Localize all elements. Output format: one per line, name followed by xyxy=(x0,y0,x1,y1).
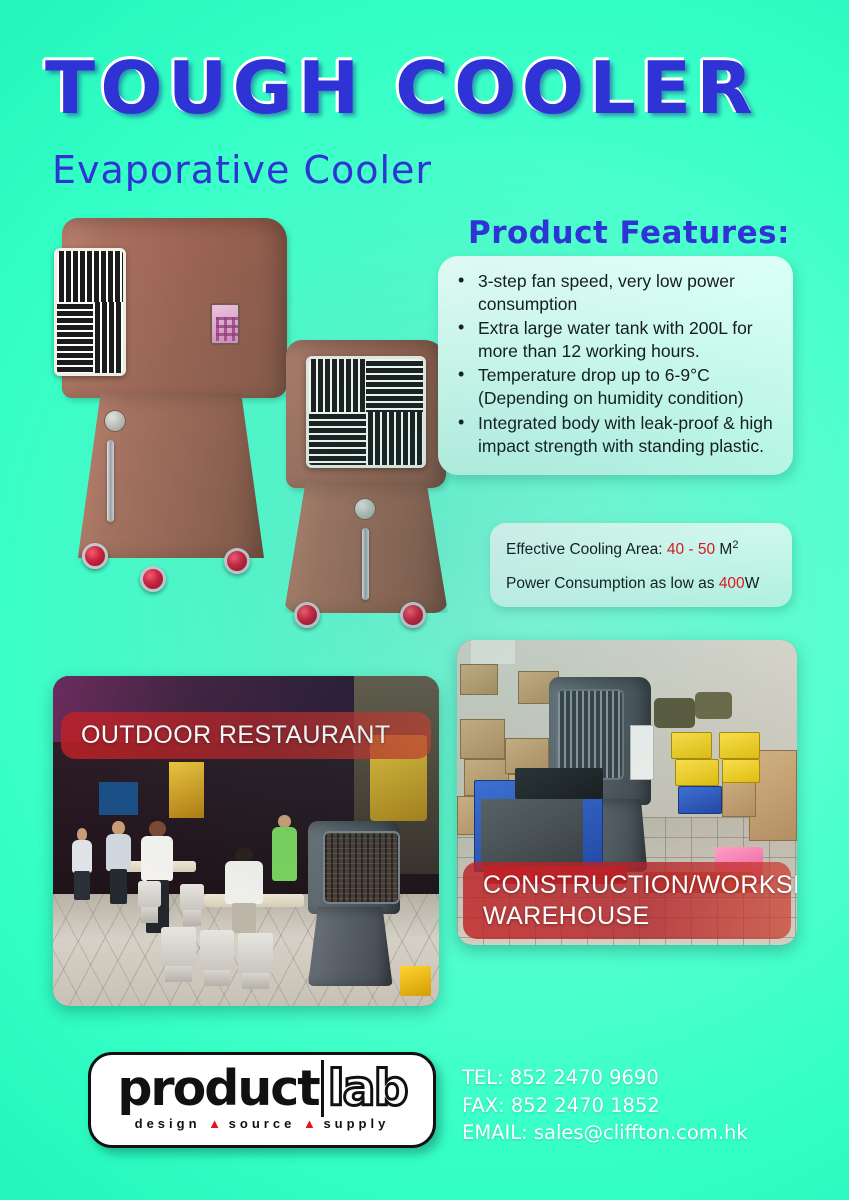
photo-caption-banner: CONSTRUCTION/WORKSITE/ WAREHOUSE xyxy=(463,862,791,939)
poster-background: TOUGH COOLER Evaporative Cooler xyxy=(0,0,849,1200)
features-list: 3-step fan speed, very low power consump… xyxy=(448,270,777,458)
person xyxy=(269,815,300,881)
person xyxy=(68,828,95,901)
contact-fax: FAX: 852 2470 1852 xyxy=(462,1092,748,1120)
tagline-source: source xyxy=(229,1116,296,1131)
caster-wheel xyxy=(294,602,320,628)
tagline-design: design xyxy=(135,1116,201,1131)
triangle-icon: ▲ xyxy=(208,1116,221,1131)
spec-power-label: Power Consumption as low as xyxy=(506,575,715,592)
gray-cooler-base xyxy=(308,907,393,986)
features-panel: 3-step fan speed, very low power consump… xyxy=(438,256,793,475)
gray-cooler-mesh xyxy=(556,689,624,781)
photo-outdoor-restaurant: OUTDOOR RESTAURANT xyxy=(53,676,439,1006)
logo-tagline: design ▲ source ▲ supply xyxy=(91,1116,433,1131)
company-logo[interactable]: productlab design ▲ source ▲ supply xyxy=(88,1052,436,1148)
photo-caption-text: CONSTRUCTION/WORKSITE/ WAREHOUSE xyxy=(483,871,797,930)
spec-cooling-area: Effective Cooling Area: 40 - 50 M2 xyxy=(506,539,778,559)
logo-secondary-text: lab xyxy=(321,1060,407,1117)
gray-cooler-mesh xyxy=(323,831,400,904)
page-subtitle: Evaporative Cooler xyxy=(52,148,751,192)
cooler-vent-louvers xyxy=(54,248,126,376)
person xyxy=(103,821,134,904)
cooler-vent-louvers xyxy=(306,356,426,468)
photo-caption-banner: OUTDOOR RESTAURANT xyxy=(61,712,431,759)
feature-item: Integrated body with leak-proof & high i… xyxy=(448,412,777,458)
control-panel xyxy=(210,303,240,345)
cooler-base xyxy=(74,393,264,558)
photo-construction-warehouse: CONSTRUCTION/WORKSITE/ WAREHOUSE xyxy=(457,640,797,945)
drain-handle xyxy=(362,528,369,600)
spec-cooling-area-value: 40 - 50 xyxy=(667,541,715,558)
person xyxy=(223,848,265,934)
tank-cap xyxy=(104,410,126,432)
title-block: TOUGH COOLER Evaporative Cooler xyxy=(52,52,751,192)
feature-item: Extra large water tank with 200L for mor… xyxy=(448,317,777,363)
logo-wordmark: productlab xyxy=(91,1064,433,1113)
drain-handle xyxy=(107,440,114,522)
caster-wheel xyxy=(82,543,108,569)
logo-primary-text: product xyxy=(117,1060,318,1117)
spec-power: Power Consumption as low as 400W xyxy=(506,575,778,593)
photo-caption-text: OUTDOOR RESTAURANT xyxy=(81,721,391,749)
triangle-icon: ▲ xyxy=(303,1116,316,1131)
tagline-supply: supply xyxy=(323,1116,389,1131)
contact-tel: TEL: 852 2470 9690 xyxy=(462,1064,748,1092)
caster-wheel xyxy=(224,548,250,574)
spec-cooling-area-unit-sup: 2 xyxy=(732,539,738,551)
spec-power-unit: W xyxy=(745,575,760,592)
caster-wheel xyxy=(400,602,426,628)
product-image-angled-cooler xyxy=(52,218,302,618)
spec-power-value: 400 xyxy=(719,575,745,592)
feature-item: 3-step fan speed, very low power consump… xyxy=(448,270,777,316)
contact-email[interactable]: EMAIL: sales@cliffton.com.hk xyxy=(462,1119,748,1147)
specs-panel: Effective Cooling Area: 40 - 50 M2 Power… xyxy=(490,523,792,607)
page-title: TOUGH COOLER xyxy=(45,52,758,124)
tank-cap xyxy=(354,498,376,520)
spec-cooling-area-unit: M xyxy=(719,541,732,558)
spec-cooling-area-label: Effective Cooling Area: xyxy=(506,541,663,558)
features-heading: Product Features: xyxy=(468,215,790,251)
feature-item: Temperature drop up to 6-9°C (Depending … xyxy=(448,364,777,410)
caster-wheel xyxy=(140,566,166,592)
contact-info: TEL: 852 2470 9690 FAX: 852 2470 1852 EM… xyxy=(462,1064,748,1147)
